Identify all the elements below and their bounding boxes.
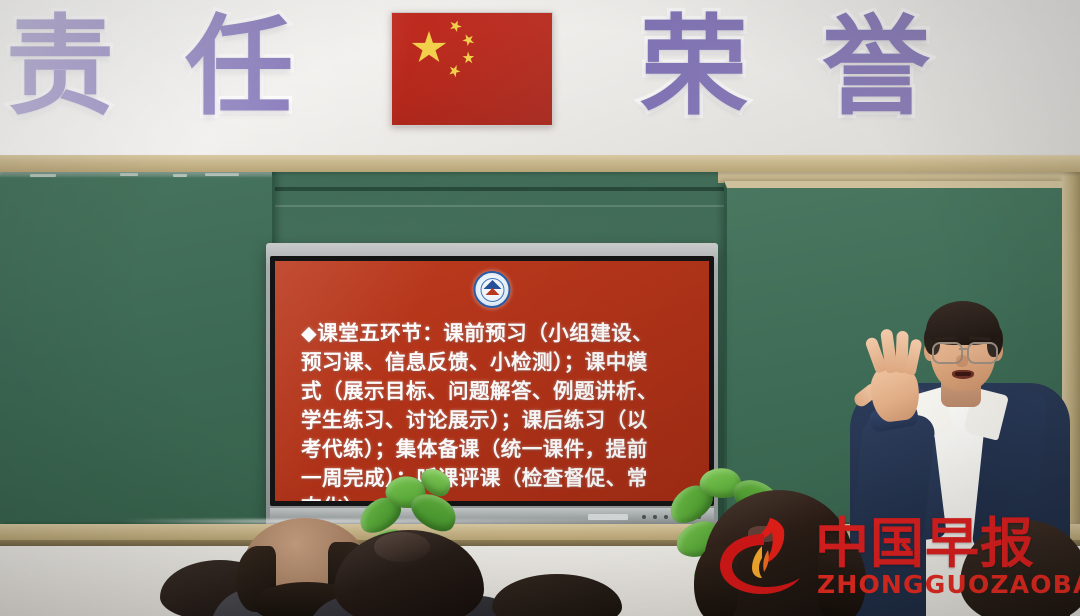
blackboard-seam-highlight [272,205,724,207]
classroom-photo: 责 任 荣 誉 [0,0,1080,616]
blackboard-top-frame [0,155,1080,172]
screen-bezel: ◆课堂五环节：课前预习（小组建设、 预习课、信息反馈、小检测）；课中模 式（展示… [270,256,714,506]
audience-head-center-right [492,574,622,616]
wall-lighting-gradient [0,0,1080,160]
panel-chip-3 [173,174,187,177]
interactive-whiteboard[interactable]: ◆课堂五环节：课前预习（小组建设、 预习课、信息反馈、小检测）；课中模 式（展示… [266,243,718,531]
presenter-nose [956,355,968,367]
hair-highlight [374,532,430,562]
control-dot-2[interactable] [653,515,657,519]
panel-chip-4 [205,173,239,176]
slide-line-5: 考代练）；集体备课（统一课件，提前 [301,435,691,464]
presentation-slide[interactable]: ◆课堂五环节：课前预习（小组建设、 预习课、信息反馈、小检测）；课中模 式（展示… [275,261,709,501]
watermark: 中国早报 ZHONGGUOZAOBAO [715,504,1075,610]
school-crest-icon [474,271,511,308]
slide-line-3: 式（展示目标、问题解答、例题讲析、 [301,377,691,406]
control-dot-1[interactable] [642,515,646,519]
hair [492,574,622,616]
panel-chip-1 [30,174,56,177]
blackboard-seam [272,187,724,191]
watermark-title: 中国早报 [815,516,1035,572]
audience-head-center [330,530,500,616]
glasses-bridge-icon [959,348,967,350]
flame-swoosh-logo-icon [718,516,808,598]
presenter-mouth-inner [955,372,971,376]
slide-line-2: 预习课、信息反馈、小检测）；课中模 [301,348,691,377]
glasses-lens-right-icon [967,342,998,364]
watermark-subtitle: ZHONGGUOZAOBAO [817,572,1080,598]
crest-chevron-inner [485,288,499,295]
panel-chip-2 [120,173,138,176]
slide-line-4: 学生练习、讨论展示）；课后练习（以 [301,406,691,435]
blackboard-left-panel[interactable] [0,172,275,522]
slide-line-1: ◆课堂五环节：课前预习（小组建设、 [301,319,691,348]
